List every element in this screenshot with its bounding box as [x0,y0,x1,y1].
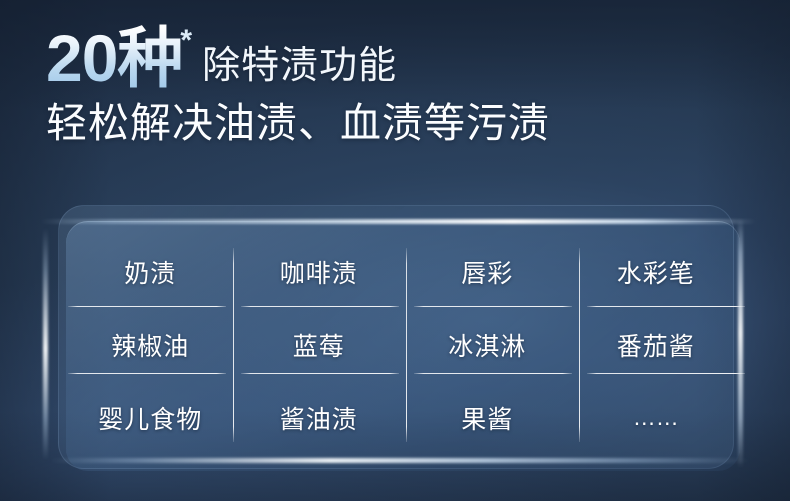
stain-cell: 冰淇淋 [403,309,572,382]
stain-cell: 唇彩 [403,236,572,309]
headline-count: 20种 [46,22,182,94]
stain-cell: 酱油渍 [235,381,404,454]
headline-block: 20种 * 除特渍功能 轻松解决油渍、血渍等污渍 [46,18,746,150]
row-divider [68,373,226,374]
row-divider [241,306,399,307]
column-divider [406,248,407,442]
column-divider [233,248,234,442]
stain-cell: 婴儿食物 [66,381,235,454]
headline-line-1: 20种 * 除特渍功能 [46,18,746,94]
stain-cell: 水彩笔 [572,236,741,309]
row-divider [414,373,572,374]
stain-type-grid: 奶渍 咖啡渍 唇彩 水彩笔 辣椒油 蓝莓 冰淇淋 番茄酱 婴儿食物 酱油渍 果酱… [66,236,740,454]
stain-cell: 奶渍 [66,236,235,309]
stain-cell: 咖啡渍 [235,236,404,309]
row-divider [587,306,745,307]
panel-glow-left-edge [43,228,48,460]
headline-feature-text: 除特渍功能 [202,44,397,88]
stain-cell-more: …… [572,381,741,454]
row-divider [414,306,572,307]
row-divider [68,306,226,307]
stain-cell: 蓝莓 [235,309,404,382]
panel-glow-top-edge [40,219,756,224]
promo-banner: 20种 * 除特渍功能 轻松解决油渍、血渍等污渍 奶渍 咖啡渍 唇彩 水彩笔 辣… [0,0,790,501]
headline-line-2: 轻松解决油渍、血渍等污渍 [46,96,746,150]
column-divider [579,248,580,442]
row-divider [241,373,399,374]
panel-glow-bottom-edge [50,458,750,463]
stain-cell: 果酱 [403,381,572,454]
row-divider [587,373,745,374]
stain-cell: 番茄酱 [572,309,741,382]
stain-cell: 辣椒油 [66,309,235,382]
